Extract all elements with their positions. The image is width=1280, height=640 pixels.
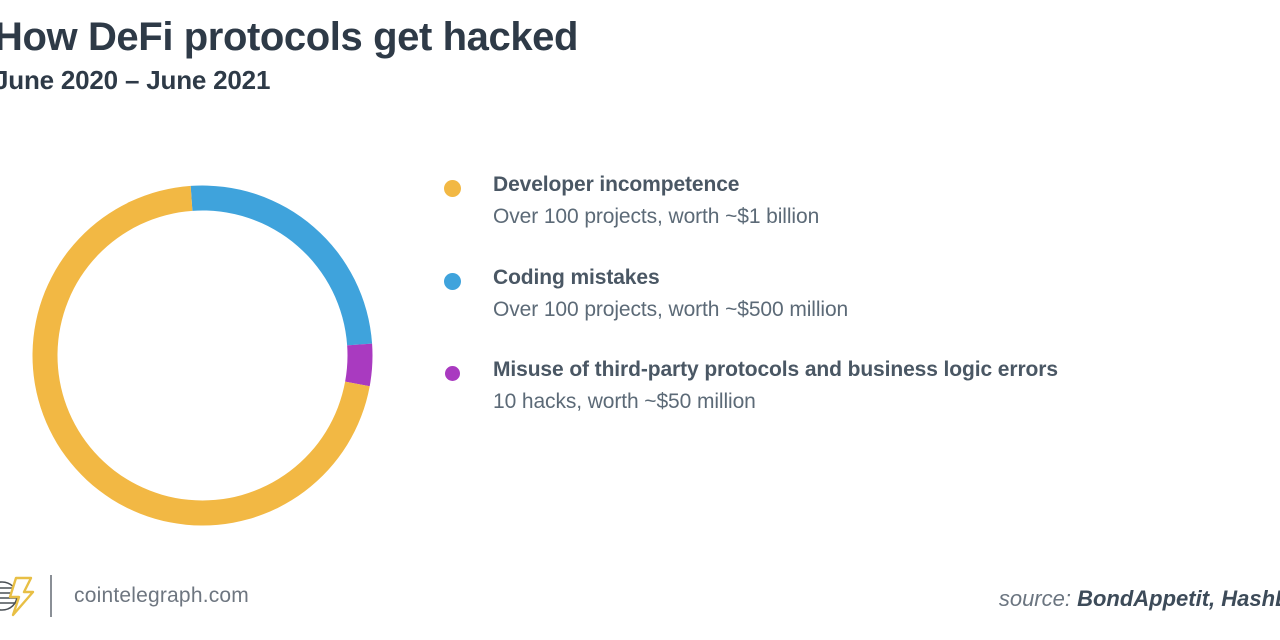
legend-bullet-yellow-icon — [444, 180, 461, 197]
legend-item-coding-mistakes[interactable]: Coding mistakes Over 100 projects, worth… — [438, 265, 1280, 324]
legend-item-developer-incompetence[interactable]: Developer incompetence Over 100 projects… — [438, 172, 1280, 231]
donut-segment[interactable] — [191, 186, 372, 346]
legend-item-detail: Over 100 projects, worth ~$500 million — [493, 297, 1280, 323]
donut-chart — [32, 185, 373, 526]
legend-item-label: Developer incompetence — [493, 172, 1280, 198]
brand-block: cointelegraph.com — [0, 574, 249, 618]
legend-item-misuse-third-party[interactable]: Misuse of third-party protocols and busi… — [438, 357, 1280, 416]
legend-item-label: Misuse of third-party protocols and busi… — [493, 357, 1280, 383]
legend-item-detail: Over 100 projects, worth ~$1 billion — [493, 204, 1280, 230]
chart-legend: Developer incompetence Over 100 projects… — [438, 172, 1280, 450]
legend-bullet-blue-icon — [444, 273, 461, 290]
donut-chart-svg — [32, 185, 373, 526]
source-names: BondAppetit, HashEx — [1077, 586, 1280, 611]
legend-item-label: Coding mistakes — [493, 265, 1280, 291]
cointelegraph-bolt-icon — [0, 575, 38, 617]
legend-bullet-purple-icon — [445, 366, 460, 381]
page-title: How DeFi protocols get hacked — [0, 14, 894, 60]
donut-segments — [33, 186, 373, 526]
source-prefix: source: — [999, 586, 1077, 611]
legend-item-detail: 10 hacks, worth ~$50 million — [493, 389, 1280, 415]
header: How DeFi protocols get hacked June 2020 … — [0, 14, 894, 96]
footer: cointelegraph.com source: BondAppetit, H… — [0, 554, 1280, 640]
page-subtitle: June 2020 – June 2021 — [0, 65, 894, 96]
source-attribution: source: BondAppetit, HashEx — [999, 586, 1280, 612]
donut-segment[interactable] — [345, 344, 372, 387]
footer-divider — [50, 575, 52, 617]
brand-url[interactable]: cointelegraph.com — [74, 584, 249, 608]
